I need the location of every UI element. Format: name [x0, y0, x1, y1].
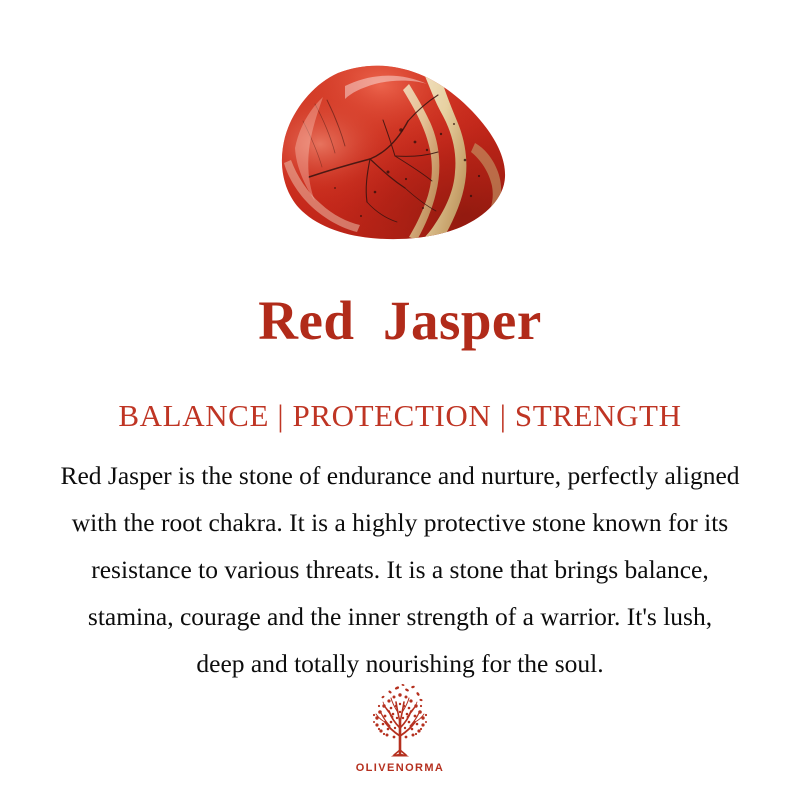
description-line: Red Jasper is the stone of endurance and… — [12, 452, 788, 499]
keyword-subtitle: BALANCE | PROTECTION | STRENGTH — [0, 398, 800, 434]
red-jasper-stone-image — [275, 64, 525, 242]
description-line: deep and totally nourishing for the soul… — [12, 640, 788, 687]
red-jasper-info-card: Red Jasper BALANCE | PROTECTION | STRENG… — [0, 0, 800, 800]
brand-logo: OLIVENORMA — [0, 684, 800, 775]
description-line: stamina, courage and the inner strength … — [12, 593, 788, 640]
brand-wordmark: OLIVENORMA — [356, 762, 445, 775]
description-text: Red Jasper is the stone of endurance and… — [12, 452, 788, 687]
stone-image-container — [0, 58, 800, 248]
page-title: Red Jasper — [0, 288, 800, 354]
description-line: resistance to various threats. It is a s… — [12, 546, 788, 593]
olive-tree-icon — [363, 684, 437, 760]
description-line: with the root chakra. It is a highly pro… — [12, 499, 788, 546]
